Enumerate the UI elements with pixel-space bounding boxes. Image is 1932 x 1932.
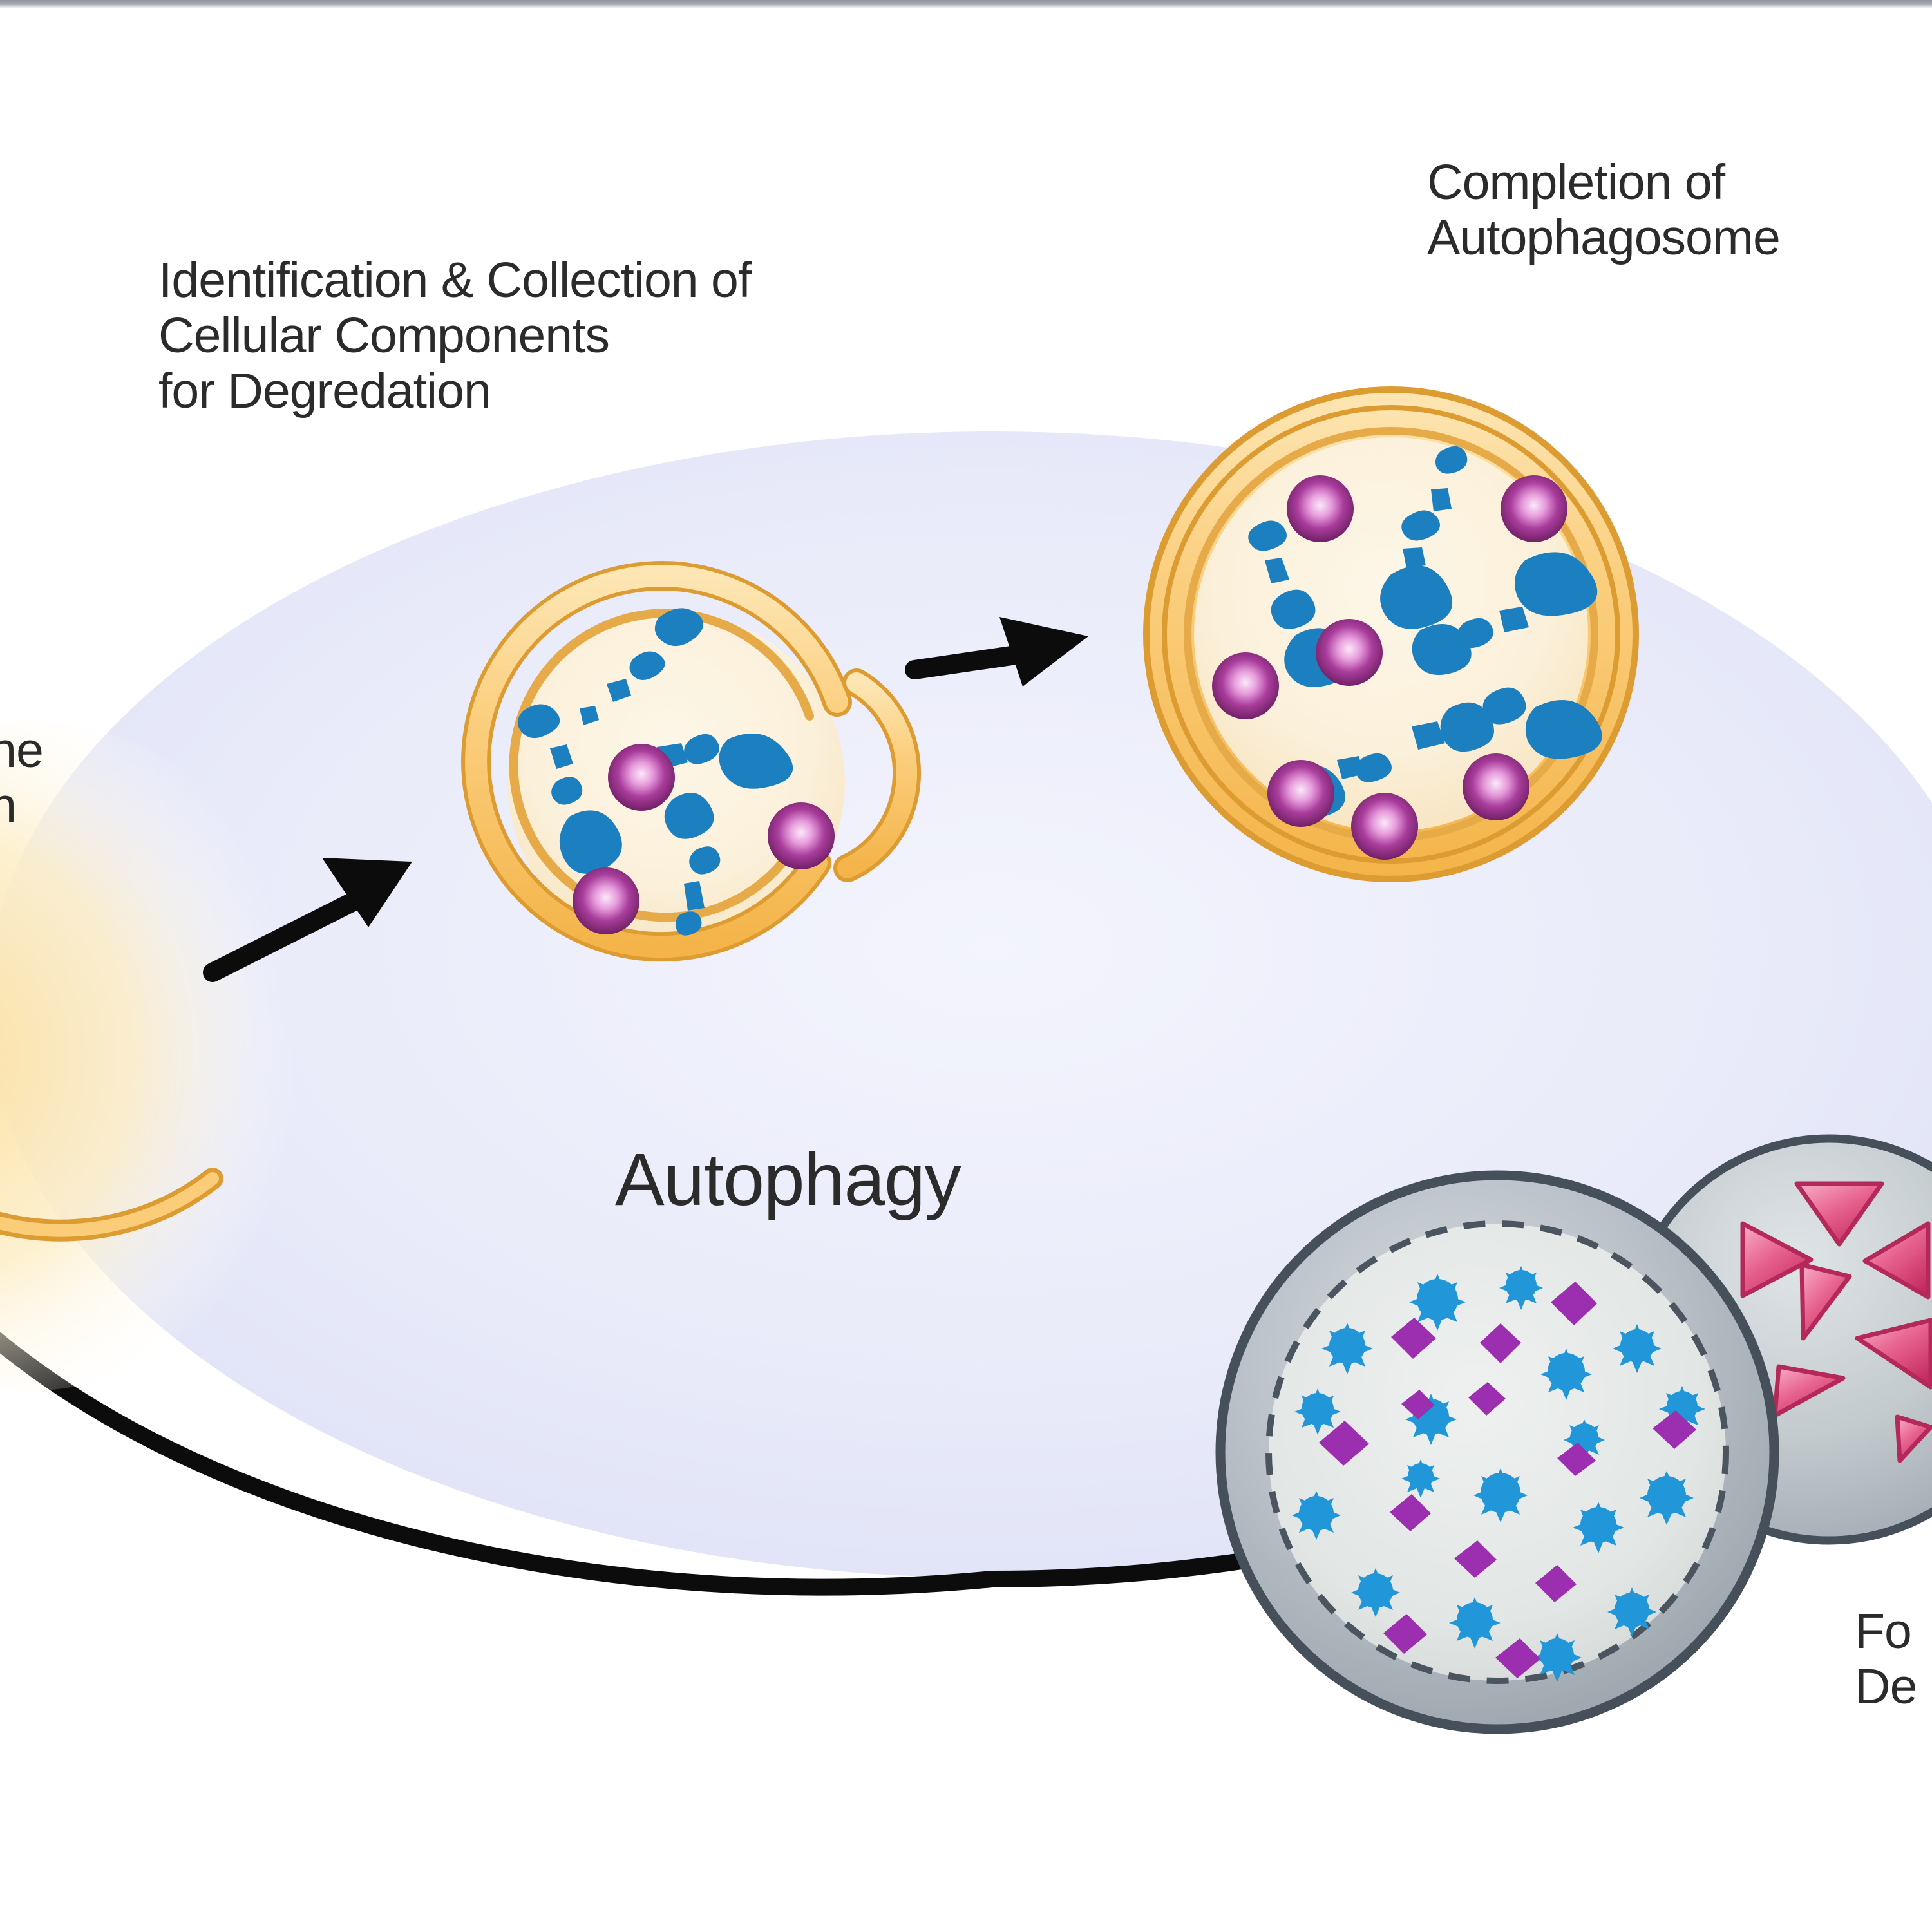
enzyme-star (1351, 1568, 1400, 1617)
label-autophagy-title: Autophagy (615, 1139, 960, 1222)
enzyme-star (1573, 1502, 1624, 1553)
enzyme-star (1473, 1468, 1528, 1522)
enzyme-star (1292, 1491, 1341, 1540)
enzyme-star (1613, 1324, 1662, 1373)
label-formation-degradative: Fo De (1855, 1604, 1917, 1714)
autophagy-diagram: Identification & Collection of Cellular … (0, 0, 1932, 1932)
enzyme-star (1533, 1633, 1582, 1682)
label-completion-autophagosome: Completion of Autophagosome (1427, 155, 1780, 265)
enzyme-star (1607, 1587, 1656, 1636)
enzyme-star (1401, 1459, 1440, 1498)
enzyme-star (1640, 1471, 1694, 1525)
enzyme-star (1449, 1597, 1501, 1649)
enzyme-star (1321, 1323, 1373, 1374)
enzyme-star (1499, 1266, 1543, 1310)
label-membrane-formation: ...ne ...n (0, 723, 43, 833)
enzyme-star (1540, 1349, 1592, 1400)
label-identification-collection: Identification & Collection of Cellular … (158, 252, 751, 419)
